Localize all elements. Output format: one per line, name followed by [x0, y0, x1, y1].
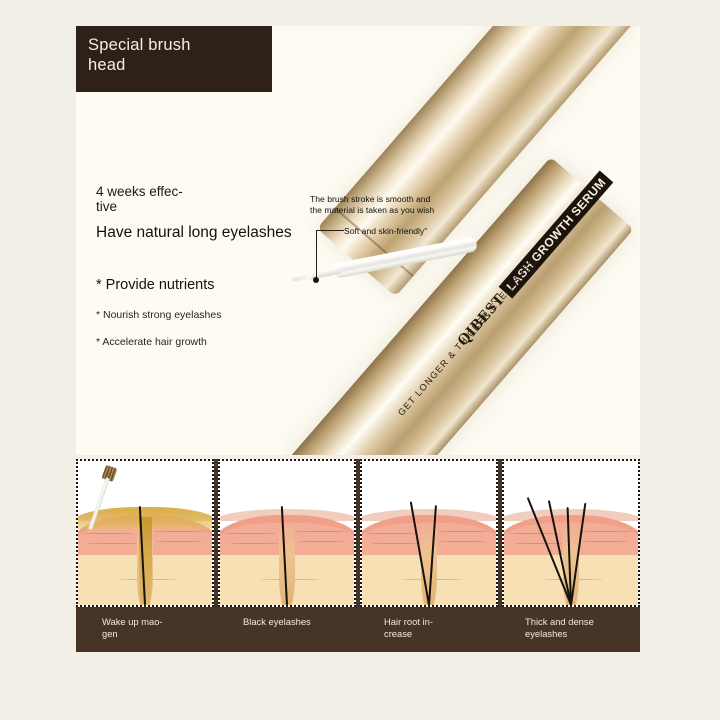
skin-texture-line: [372, 543, 421, 544]
hero-panel: Special brush head QIBESTLASH GROWTH SER…: [76, 26, 640, 455]
skin-texture-line: [224, 533, 276, 534]
callout-soft-text: Soft and skin-friendly": [344, 226, 427, 237]
skin-texture-line: [440, 541, 486, 542]
hero-copy-block: 4 weeks effec- tive Have natural long ey…: [96, 184, 346, 362]
skin-texture-line: [508, 533, 560, 534]
skin-texture-line: [437, 531, 490, 532]
panel-caption: Hair root in- crease: [358, 607, 499, 652]
panel-caption: Thick and dense eyelashes: [499, 607, 640, 652]
panel-caption: Black eyelashes: [217, 607, 358, 652]
skin-texture-line: [298, 541, 344, 542]
callout-main-text: The brush stroke is smooth and the mater…: [310, 194, 540, 215]
page-title: Special brush head: [88, 35, 272, 75]
product-infographic: Special brush head QIBESTLASH GROWTH SER…: [0, 0, 720, 720]
skin-air-layer: [220, 461, 354, 513]
leader-dot-marker: [313, 277, 319, 283]
leader-line-vertical: [316, 230, 317, 280]
skin-texture-line: [230, 543, 279, 544]
hero-title-box: Special brush head: [76, 26, 272, 92]
leader-line-horizontal: [316, 230, 344, 231]
skin-air-layer: [362, 461, 496, 513]
skin-texture-line: [514, 543, 563, 544]
process-panel: [76, 459, 214, 607]
bullet-accelerate: * Accelerate hair growth: [96, 335, 346, 349]
process-panels: [76, 459, 640, 607]
weeks-effective-text: 4 weeks effec- tive: [96, 184, 346, 214]
skin-texture-line: [82, 533, 134, 534]
provide-nutrients-text: * Provide nutrients: [96, 276, 346, 294]
skin-texture-line: [295, 531, 348, 532]
skin-air-layer: [504, 461, 638, 513]
panel-caption: Wake up mao- gen: [76, 607, 217, 652]
skin-texture-line: [366, 533, 418, 534]
skin-texture-line: [153, 531, 206, 532]
brush-callout: The brush stroke is smooth and the mater…: [310, 194, 540, 215]
skin-texture-line: [579, 531, 632, 532]
process-captions: Wake up mao- genBlack eyelashesHair root…: [76, 607, 640, 652]
skin-texture-line: [582, 541, 628, 542]
process-panel: [360, 459, 498, 607]
skin-texture-line: [88, 543, 137, 544]
bullet-nourish: * Nourish strong eyelashes: [96, 308, 346, 322]
skin-texture-line: [156, 541, 202, 542]
hero-headline: Have natural long eyelashes: [96, 223, 346, 242]
process-strip: Wake up mao- genBlack eyelashesHair root…: [76, 459, 640, 652]
process-panel: [502, 459, 640, 607]
process-panel: [218, 459, 356, 607]
